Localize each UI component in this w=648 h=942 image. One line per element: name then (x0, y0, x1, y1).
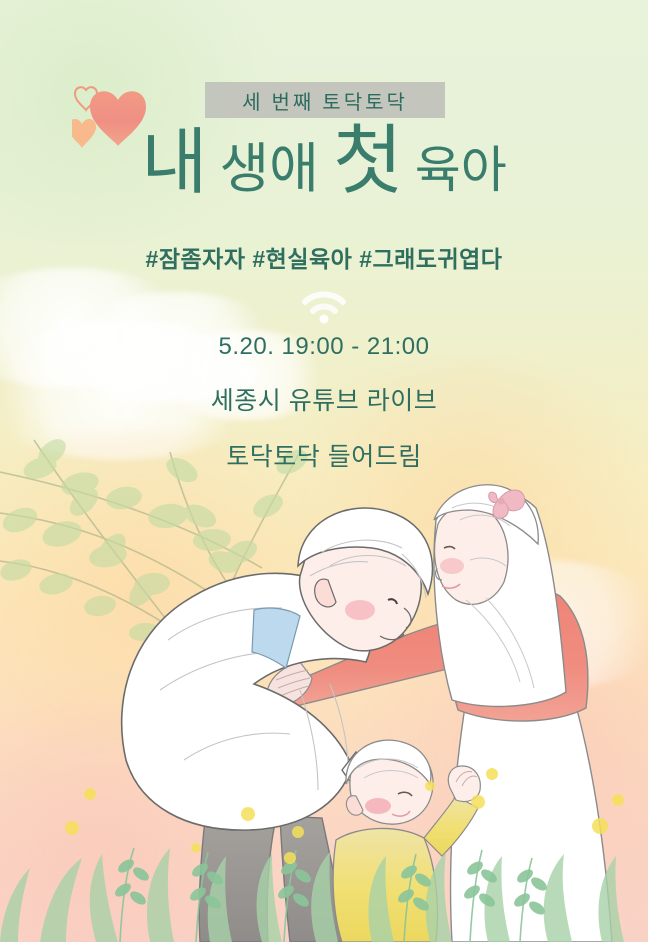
event-place: 세종시 유튜브 라이브 (0, 381, 648, 417)
badge-banner: 세 번째 토닥토닥 (205, 82, 445, 118)
poster: 세 번째 토닥토닥 내 생애 첫 육아 #잠좀자자 #현실육아 #그래도귀엽다 … (0, 0, 648, 942)
event-tagline: 토닥토닥 들어드림 (0, 437, 648, 473)
badge-text: 세 번째 토닥토닥 (242, 86, 408, 115)
title-part-3: 첫 (333, 124, 403, 200)
wifi-icon (299, 286, 349, 324)
father-blush (345, 600, 375, 620)
hashtag-line: #잠좀자자 #현실육아 #그래도귀엽다 (0, 240, 648, 274)
mother-blush (440, 558, 464, 574)
event-datetime: 5.20. 19:00 - 21:00 (0, 333, 648, 361)
grass-decoration (0, 762, 648, 942)
title-part-4: 육아 (415, 145, 507, 195)
event-info: 5.20. 19:00 - 21:00 세종시 유튜브 라이브 토닥토닥 들어드… (0, 333, 648, 493)
page-title: 내 생애 첫 육아 (0, 124, 648, 220)
mother-face (435, 506, 508, 605)
title-part-2: 생애 (219, 142, 318, 196)
title-part-1: 내 (141, 127, 207, 199)
yellow-flower-dots (65, 768, 624, 864)
